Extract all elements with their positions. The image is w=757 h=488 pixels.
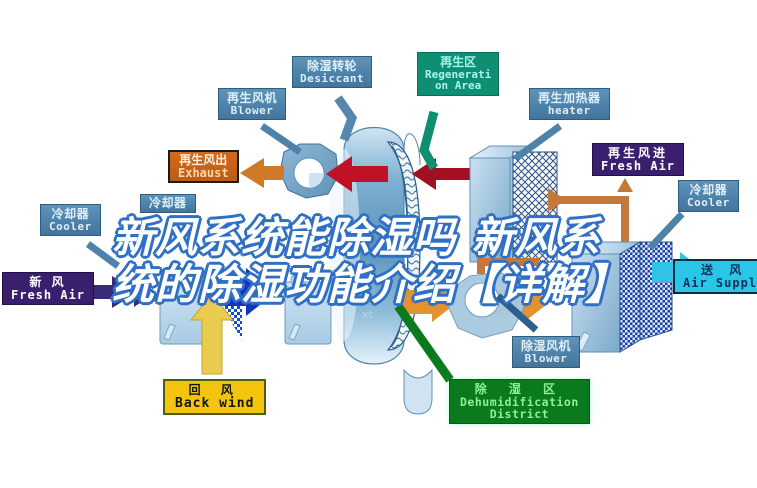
label-cn: 再生风进 (601, 147, 675, 160)
label-regeneration-area: 再生区 Regenerati on Area (417, 52, 499, 96)
label-cn: 回 风 (175, 384, 254, 397)
label-dehumidification-blower: 除湿风机 Blower (512, 336, 580, 368)
condensate-drain (404, 370, 432, 414)
label-cn: 冷却器 (149, 197, 187, 210)
label-cooler-mid: 冷却器 (140, 194, 196, 213)
label-cooler-left: 冷却器 Cooler (40, 204, 101, 236)
label-en: Blower (227, 105, 277, 117)
label-desiccant-wheel: 除湿转轮 Desiccant (292, 56, 372, 88)
label-en: Exhaust (178, 167, 229, 180)
label-cn: 再生区 (425, 56, 491, 69)
label-exhaust: 再生风出 Exhaust (168, 150, 239, 183)
label-en: Cooler (687, 197, 730, 209)
label-fresh-air: 新 风 Fresh Air (2, 272, 94, 305)
overlay-title: 新风系统能除湿吗 新风系 统的除湿功能介绍【详解】 (112, 214, 652, 308)
label-regeneration-fresh-air: 再生风进 Fresh Air (592, 143, 684, 176)
label-cooler-right: 冷却器 Cooler (678, 180, 739, 212)
label-en: Blower (521, 353, 571, 365)
regen-hot-air-arrow-right (412, 158, 470, 190)
label-cn: 新 风 (11, 276, 85, 289)
label-en-line1: Dehumidification (460, 396, 579, 408)
label-cn: 冷却器 (49, 208, 92, 221)
label-back-wind: 回 风 Back wind (163, 379, 266, 415)
label-cn: 除湿转轮 (300, 60, 364, 73)
label-en: Back wind (175, 397, 254, 411)
label-cn: 再生风机 (227, 92, 277, 105)
label-en: Fresh Air (11, 289, 85, 302)
label-regeneration-blower: 再生风机 Blower (218, 88, 286, 120)
label-en: Cooler (49, 221, 92, 233)
label-en: Air Supply (683, 277, 757, 290)
label-cn: 除湿风机 (521, 340, 571, 353)
label-en: Fresh Air (601, 160, 675, 173)
label-regeneration-heater: 再生加热器 heater (529, 88, 610, 120)
label-en-line2: on Area (425, 80, 491, 92)
label-en-line2: District (460, 408, 579, 420)
label-cn: 冷却器 (687, 184, 730, 197)
label-cn: 再生风出 (178, 154, 229, 167)
label-cn: 除 湿 区 (460, 383, 579, 396)
label-cn: 送 风 (683, 264, 757, 277)
label-en: Desiccant (300, 73, 364, 85)
label-cn: 再生加热器 (538, 92, 601, 105)
dehumidifier-schematic-image: xt (0, 0, 757, 488)
overlay-title-line2: 统的除湿功能介绍【详解】 (112, 261, 652, 308)
exhaust-arrow (240, 158, 284, 188)
regeneration-blower (280, 144, 338, 198)
label-dehumidification-district: 除 湿 区 Dehumidification District (449, 379, 590, 424)
label-en: heater (538, 105, 601, 117)
overlay-title-line1: 新风系统能除湿吗 新风系 (112, 214, 652, 261)
label-air-supply: 送 风 Air Supply (673, 259, 757, 294)
svg-text:xt: xt (362, 308, 374, 321)
